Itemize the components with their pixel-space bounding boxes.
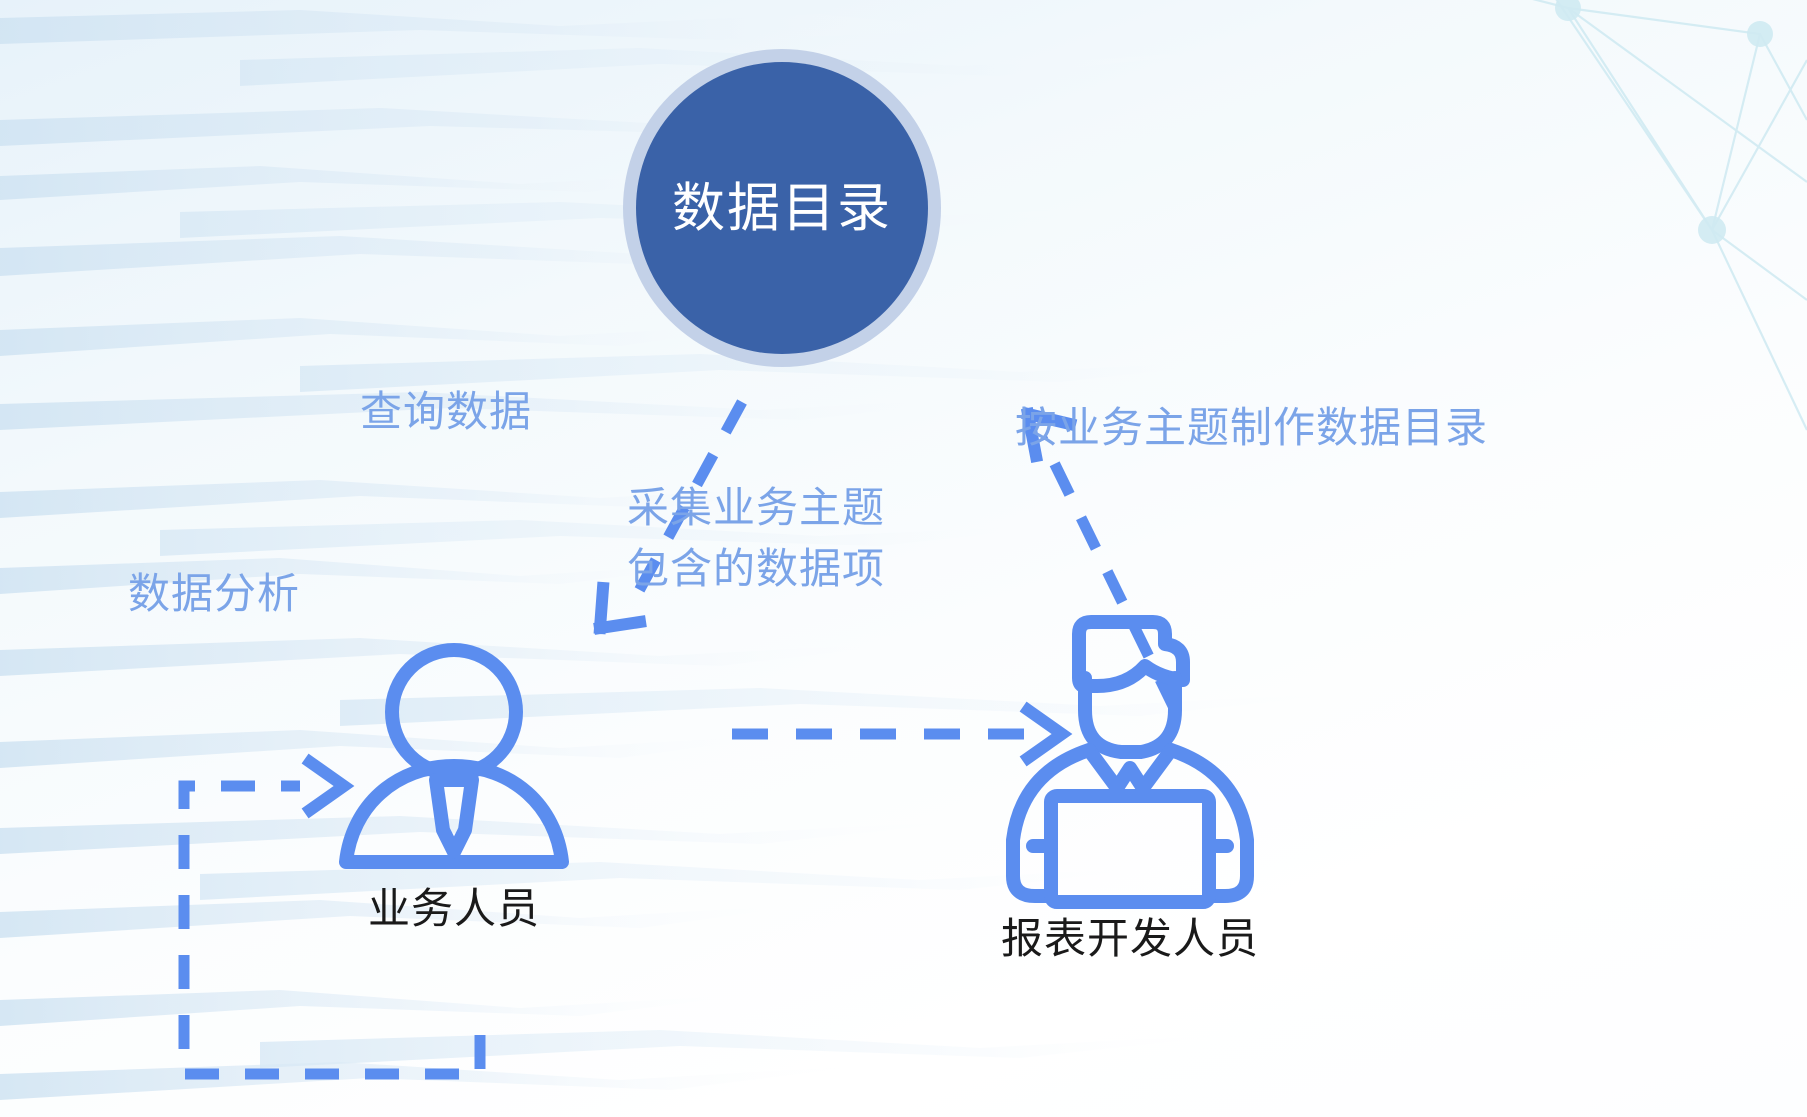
actor-report-developer-label: 报表开发人员 (1001, 916, 1259, 962)
diagram-canvas: 数据目录 查询数据 数据分析 采集业务主题 包含的数据项 按业务主题制作数据目录… (0, 0, 1807, 1117)
report-developer-laptop-icon (985, 600, 1275, 910)
edge-label-collect-data-items: 采集业务主题 包含的数据项 (627, 478, 885, 600)
actor-business-person[interactable]: 业务人员 (330, 640, 578, 932)
actor-report-developer[interactable]: 报表开发人员 (985, 600, 1275, 962)
hub-node-data-catalog[interactable]: 数据目录 (636, 62, 928, 354)
edge-label-data-analysis: 数据分析 (128, 564, 300, 625)
edge-label-query-data: 查询数据 (360, 382, 532, 443)
edge-label-build-catalog-by-topic: 按业务主题制作数据目录 (1015, 398, 1488, 459)
hub-label: 数据目录 (672, 182, 892, 235)
actor-business-person-label: 业务人员 (368, 886, 540, 932)
business-person-icon (330, 640, 578, 880)
